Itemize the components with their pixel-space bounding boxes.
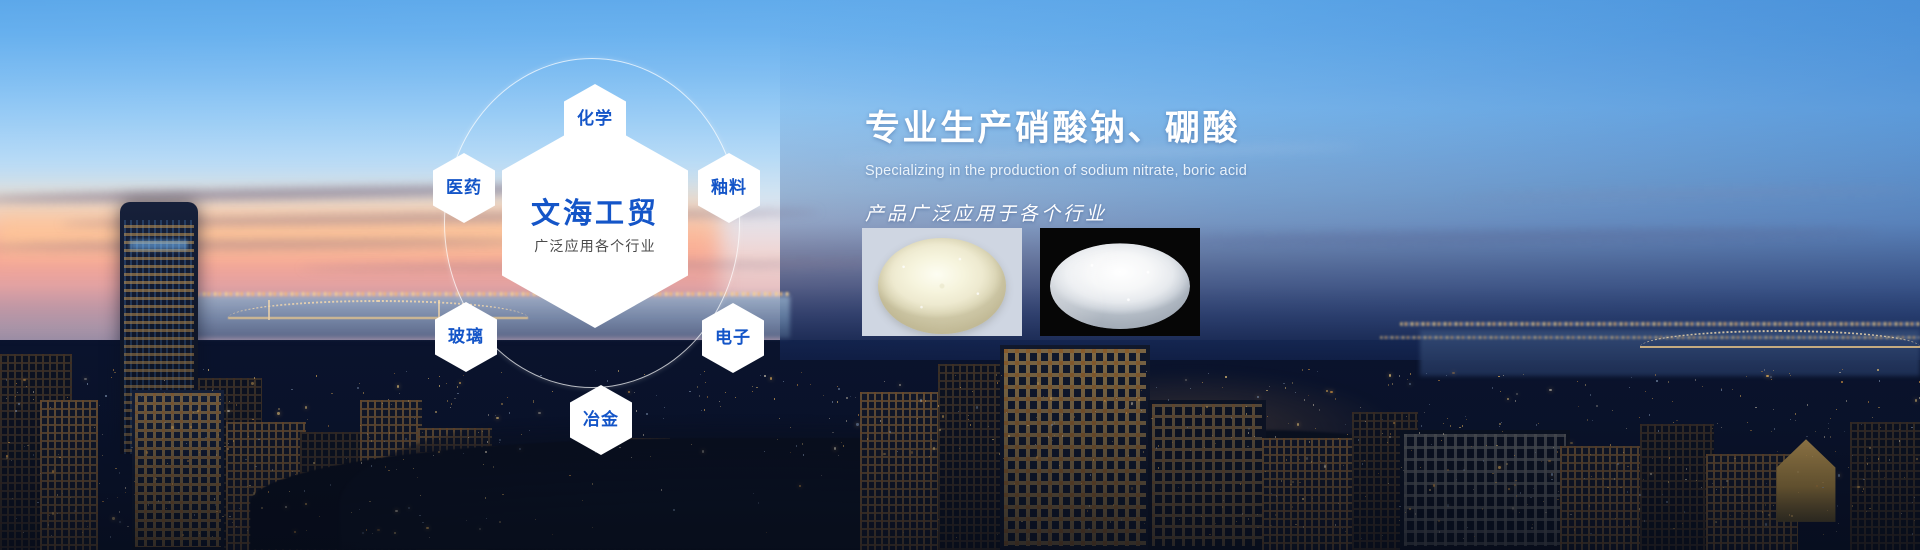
hero-banner: 文海工贸 广泛应用各个行业 化学 釉料 电子 冶金 玻璃 医药 专业生产硝酸钠、… — [0, 0, 1920, 550]
product-photo-sodium-nitrate[interactable] — [862, 228, 1022, 336]
powder-pile-cream — [878, 238, 1006, 334]
product-photo-boric-acid[interactable] — [1040, 228, 1200, 336]
industry-hexagon-cluster: 文海工贸 广泛应用各个行业 化学 釉料 电子 冶金 玻璃 医药 — [430, 40, 760, 440]
company-tagline: 广泛应用各个行业 — [534, 236, 656, 256]
hex-label-metallurgy: 冶金 — [583, 411, 619, 430]
hex-label-pharmaceutical: 医药 — [446, 179, 482, 198]
hex-label-chemical: 化学 — [577, 110, 613, 129]
headline: 专业生产硝酸钠、硼酸 — [865, 100, 1505, 151]
hex-label-glaze: 釉料 — [711, 179, 747, 198]
company-name: 文海工贸 — [531, 190, 659, 232]
banner-copy: 专业生产硝酸钠、硼酸 Specializing in the productio… — [865, 100, 1505, 226]
subtitle-english: Specializing in the production of sodium… — [865, 163, 1505, 179]
powder-pile-white — [1050, 243, 1190, 329]
hex-label-glass: 玻璃 — [448, 328, 484, 347]
product-photo-group — [862, 228, 1200, 336]
subtitle-chinese: 产品广泛应用于各个行业 — [865, 199, 1505, 226]
hex-label-electronics: 电子 — [715, 329, 751, 348]
